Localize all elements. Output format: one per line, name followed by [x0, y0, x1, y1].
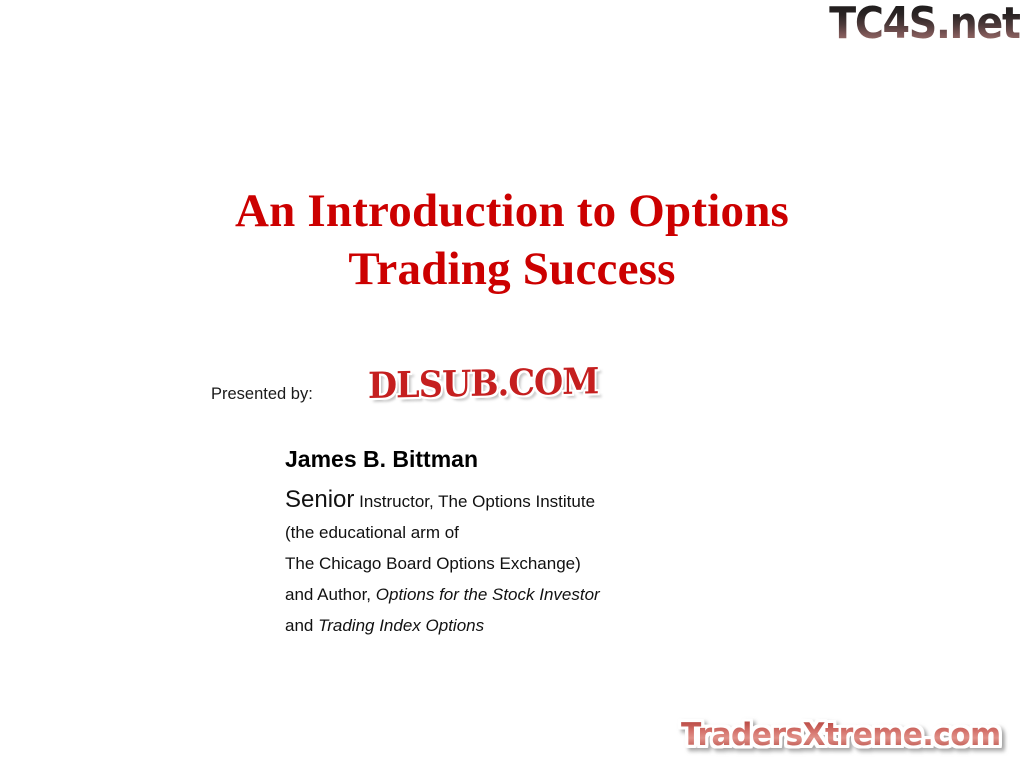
- book-title-1: Options for the Stock Investor: [376, 585, 600, 604]
- speaker-affiliation-line-1: (the educational arm of: [285, 517, 905, 548]
- presented-by-label: Presented by:: [211, 384, 313, 404]
- tc4s-watermark-logo: TC4S.net: [830, 2, 1020, 46]
- book-title-2: Trading Index Options: [318, 616, 484, 635]
- title-slide: TC4S.net An Introduction to Options Trad…: [0, 0, 1024, 768]
- title-line-2: Trading Success: [0, 240, 1024, 298]
- page-title: An Introduction to Options Trading Succe…: [0, 182, 1024, 298]
- title-line-1: An Introduction to Options: [0, 182, 1024, 240]
- tradersxtreme-watermark-logo: TradersXtreme.com: [681, 716, 1001, 754]
- speaker-role-emphasis: Senior: [285, 486, 354, 513]
- presented-by-row: Presented by: DLSUB.COM: [211, 368, 811, 410]
- speaker-role-rest: Instructor, The Options Institute: [359, 492, 595, 511]
- speaker-author-line-1: and Author, Options for the Stock Invest…: [285, 579, 905, 610]
- speaker-role: Senior Instructor, The Options Institute: [285, 484, 905, 517]
- author-prefix: and Author,: [285, 585, 371, 604]
- author-conjunction: and: [285, 616, 313, 635]
- speaker-name: James B. Bittman: [285, 444, 905, 474]
- dlsub-watermark-logo: DLSUB.COM: [368, 359, 598, 408]
- speaker-details: James B. Bittman Senior Instructor, The …: [285, 444, 905, 641]
- speaker-author-line-2: and Trading Index Options: [285, 610, 905, 641]
- speaker-affiliation-line-2: The Chicago Board Options Exchange): [285, 548, 905, 579]
